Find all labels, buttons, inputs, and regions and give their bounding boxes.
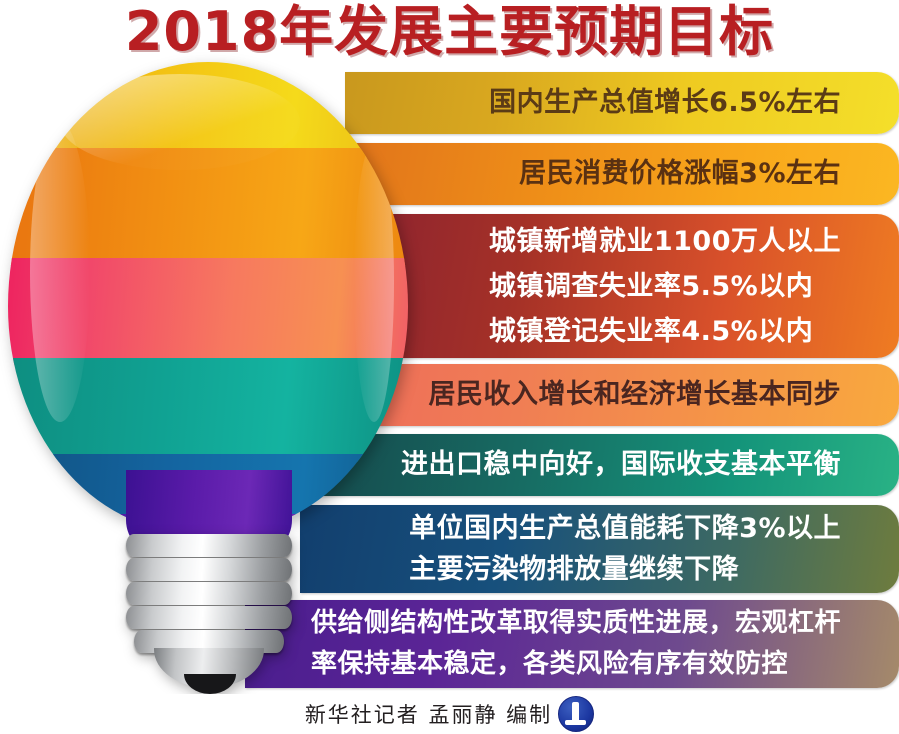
bulb-glass xyxy=(8,62,408,532)
bulb-band-pink xyxy=(8,258,408,366)
banner-line: 单位国内生产总值能耗下降3%以上 xyxy=(409,508,841,549)
screw-thread xyxy=(126,558,292,581)
goal-banner-gdp-growth: 国内生产总值增长6.5%左右 xyxy=(345,72,899,134)
credit-text: 新华社记者 孟丽静 编制 xyxy=(305,699,552,729)
goal-banner-household-income: 居民收入增长和经济增长基本同步 xyxy=(345,364,899,426)
banner-line: 城镇登记失业率4.5%以内 xyxy=(489,309,841,354)
banner-line: 城镇新增就业1100万人以上 xyxy=(489,219,841,264)
bulb-band-yellow xyxy=(8,62,408,158)
banner-line: 国内生产总值增长6.5%左右 xyxy=(489,86,841,120)
banner-text-block: 居民消费价格涨幅3%左右 xyxy=(519,157,841,191)
screw-contact xyxy=(184,674,236,694)
banner-text-block: 进出口稳中向好，国际收支基本平衡 xyxy=(401,448,841,482)
bulb-band-teal xyxy=(8,358,408,462)
infographic-poster: 2018年发展主要预期目标 国内生产总值增长6.5%左右 居民消费价格涨幅3%左… xyxy=(0,0,899,734)
screw-thread xyxy=(126,606,292,629)
bulb-screw-base xyxy=(126,534,292,684)
banner-line: 居民消费价格涨幅3%左右 xyxy=(519,157,841,191)
banner-line: 进出口稳中向好，国际收支基本平衡 xyxy=(401,448,841,482)
xinhua-logo-icon xyxy=(558,696,594,732)
banner-line: 居民收入增长和经济增长基本同步 xyxy=(429,378,842,412)
screw-thread xyxy=(126,582,292,605)
bulb-band-orange xyxy=(8,148,408,266)
screw-thread xyxy=(126,534,292,557)
banner-text-block: 城镇新增就业1100万人以上 城镇调查失业率5.5%以内 城镇登记失业率4.5%… xyxy=(489,219,841,354)
banner-line: 城镇调查失业率5.5%以内 xyxy=(489,264,841,309)
banner-text-block: 国内生产总值增长6.5%左右 xyxy=(489,86,841,120)
banner-text-block: 居民收入增长和经济增长基本同步 xyxy=(429,378,842,412)
goal-banner-employment: 城镇新增就业1100万人以上 城镇调查失业率5.5%以内 城镇登记失业率4.5%… xyxy=(345,214,899,358)
goal-banner-cpi: 居民消费价格涨幅3%左右 xyxy=(345,143,899,205)
banner-text-block: 单位国内生产总值能耗下降3%以上 主要污染物排放量继续下降 xyxy=(409,508,841,590)
light-bulb-icon xyxy=(8,62,408,702)
credit-line: 新华社记者 孟丽静 编制 xyxy=(0,694,899,734)
banner-line: 主要污染物排放量继续下降 xyxy=(409,549,841,590)
